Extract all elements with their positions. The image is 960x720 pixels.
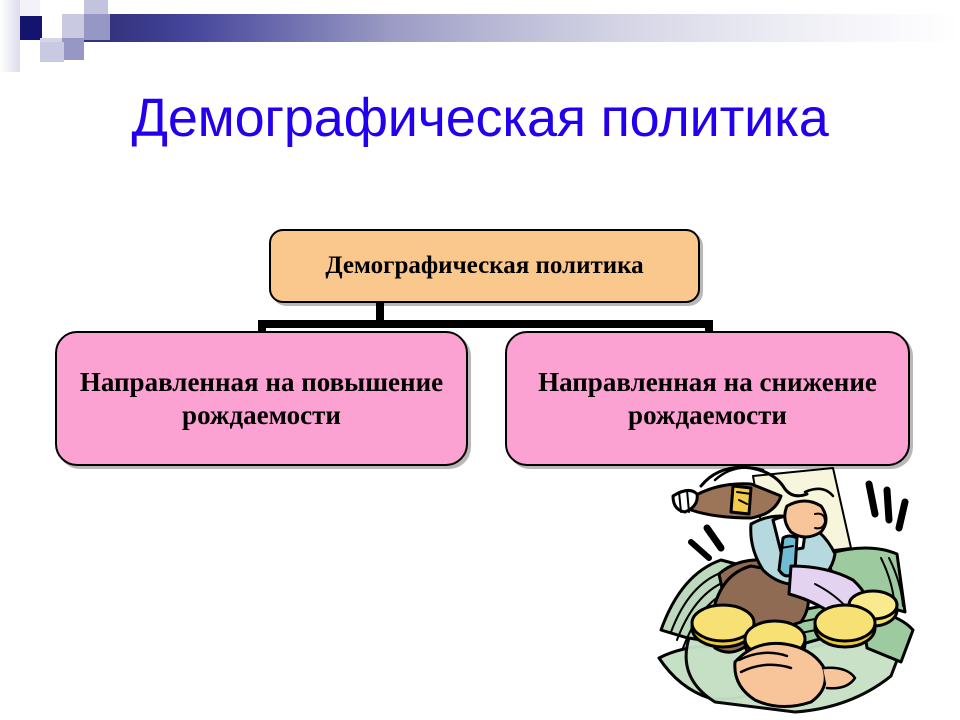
page-title: Демографическая политика — [60, 82, 900, 154]
header-mosaic-block — [62, 0, 84, 14]
diagram-node-decrease-birthrate[interactable]: Направленная на снижение рождаемости — [505, 331, 910, 466]
header-mosaic-block — [84, 0, 108, 14]
header-mosaic-block — [20, 0, 40, 16]
header-mosaic-block — [62, 38, 84, 60]
header-decoration — [0, 0, 960, 72]
header-mosaic-block — [62, 14, 84, 38]
header-mosaic-block — [40, 42, 64, 62]
header-mosaic-block — [0, 0, 20, 72]
diagram-node-decrease-birthrate-label: Направленная на снижение рождаемости — [507, 366, 908, 432]
header-mosaic-block — [20, 40, 40, 72]
slide-canvas: Демографическая политика Демографическая… — [0, 0, 960, 720]
diagram-node-increase-birthrate[interactable]: Направленная на повышение рождаемости — [55, 331, 468, 466]
header-gradient-bar — [38, 14, 960, 42]
header-mosaic-block — [18, 16, 42, 40]
diagram-node-root[interactable]: Демографическая политика — [269, 229, 700, 303]
diagram-node-root-label: Демографическая политика — [311, 252, 657, 280]
money-clipart — [655, 462, 960, 720]
header-mosaic-block — [84, 14, 110, 40]
connector-horizontal-bar — [258, 320, 713, 328]
diagram-node-increase-birthrate-label: Направленная на повышение рождаемости — [57, 366, 466, 432]
